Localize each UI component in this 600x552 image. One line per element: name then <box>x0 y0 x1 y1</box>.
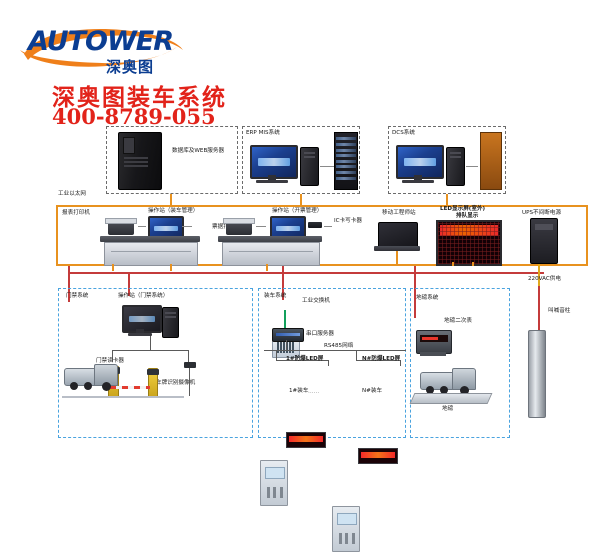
label-report-printer: 报表打印机 <box>62 210 90 216</box>
report-printer-icon <box>108 222 134 235</box>
drop-billing-ws <box>266 264 268 271</box>
label-weighbridge-system: 地磅系统 <box>416 295 438 301</box>
label-led-outdoor: LED显示屏(室外) <box>440 206 485 212</box>
barrier-gate-post-icon <box>148 368 158 398</box>
rs485-stem <box>286 340 287 350</box>
label-weighbridge: 地磅 <box>442 406 453 412</box>
gate-truck-tank-icon <box>64 368 98 386</box>
label-db-web-server: 数据库及WEB服务器 <box>172 148 232 154</box>
drop-db-web <box>170 194 172 205</box>
access-tree-bar <box>112 350 188 351</box>
led-explosionproof-n-icon <box>358 448 398 464</box>
weighbridge-plate-icon <box>410 393 493 404</box>
erp-link-line <box>320 166 334 167</box>
weigh-link-down <box>414 300 416 318</box>
ethernet-bus-line <box>56 205 588 207</box>
db-web-server-tower-icon <box>118 132 162 190</box>
diagram-canvas: AUTOWER 深奥图 深奥图装车系统 400-8789-055 数据库及WEB… <box>0 0 600 480</box>
label-serial-server: 串口服务器 <box>306 331 334 337</box>
gate-truck-wheel-1 <box>70 382 78 390</box>
rs485-branch-1 <box>276 350 277 360</box>
label-rs485: RS485网络 <box>324 343 353 349</box>
label-workstation-loading: 操作站（装车管理） <box>148 208 198 214</box>
label-led-explosionproof-n: N#防爆LED屏 <box>362 356 400 362</box>
erp-monitor-icon <box>250 145 298 179</box>
access-tree-stem <box>150 336 151 350</box>
dcs-link-line <box>466 166 478 167</box>
drop-led-outdoor-2 <box>472 262 474 266</box>
label-dcs: DCS系统 <box>392 130 415 136</box>
erp-pc-tower-icon <box>300 147 319 186</box>
label-ups: UPS不间断电源 <box>522 210 561 216</box>
dcs-panel-icon <box>480 132 502 190</box>
audio-column-stem <box>538 286 540 330</box>
drop-report-printer <box>112 264 114 271</box>
led-explosionproof-1-icon <box>286 432 326 448</box>
access-ws-monitor-base <box>128 333 152 336</box>
plate-recognition-camera-icon <box>184 362 196 368</box>
gate-truck-wheel-2 <box>84 382 92 390</box>
ethernet-bus-right-edge <box>586 205 588 265</box>
barrier-gate-arm-icon <box>110 386 150 389</box>
label-access-control-system: 门禁系统 <box>66 293 88 299</box>
ic-writer-link <box>324 226 332 227</box>
label-weighbridge-indicator: 地磅二次表 <box>444 318 472 324</box>
gate-truck-wheel-3 <box>102 382 111 391</box>
label-workstation-access: 操作站（门禁系统） <box>118 293 168 299</box>
weighbridge-indicator-base <box>420 352 446 356</box>
mobile-engineer-laptop-icon <box>378 222 418 248</box>
receipt-printer-icon <box>226 222 252 235</box>
company-logo: AUTOWER 深奥图 <box>18 20 188 72</box>
switch-downlink <box>284 310 286 328</box>
camera-pole <box>189 368 190 396</box>
zone-weighbridge <box>410 288 510 438</box>
ethernet-bus-left-edge <box>56 205 58 265</box>
drop-mobile-station <box>396 251 398 264</box>
loading-skid-n-icon <box>332 506 360 552</box>
weighbridge-indicator-icon <box>416 330 452 354</box>
label-erp-mis: ERP MIS系统 <box>246 130 280 136</box>
ups-icon <box>530 218 558 264</box>
logo-wordmark-cn: 深奥图 <box>106 56 154 77</box>
label-mobile-engineer-station: 移动工程师站 <box>382 210 416 216</box>
loading-skid-1-icon <box>260 460 288 506</box>
dcs-monitor-base <box>402 180 434 183</box>
drop-led-outdoor <box>452 262 454 266</box>
erp-rack-icon <box>334 132 358 190</box>
billing-console-body <box>222 242 320 266</box>
audio-column-icon <box>528 330 546 418</box>
rs485-to-led-1 <box>328 360 329 366</box>
dcs-pc-tower-icon <box>446 147 465 186</box>
label-loading-arm-n: N#装车 <box>362 388 382 394</box>
label-220vac: 220VAC供电 <box>528 276 561 282</box>
loading-console-body <box>104 242 198 266</box>
power-drop-line <box>538 264 540 286</box>
drop-loading-ws <box>170 264 172 271</box>
erp-monitor-base <box>256 180 288 183</box>
label-industrial-ethernet: 工业以太网 <box>58 191 86 197</box>
label-led-explosionproof-1: 1#防爆LED屏 <box>286 356 323 362</box>
access-ws-pc-icon <box>162 307 179 338</box>
drop-dcs <box>446 194 448 205</box>
gate-ground-line <box>62 396 184 398</box>
serial-server-icon <box>272 328 304 342</box>
label-industrial-switch: 工业交换机 <box>302 298 330 304</box>
label-workstation-billing: 操作站（开票管理） <box>272 208 322 214</box>
rs485-branch-2 <box>356 350 357 360</box>
label-led-outdoor-sub: 排队显示 <box>456 213 478 219</box>
dcs-monitor-icon <box>396 145 444 179</box>
label-ic-card-writer: IC卡写卡器 <box>334 218 362 224</box>
access-tree-to-camera <box>188 350 189 362</box>
led-outdoor-panel-icon <box>436 220 502 266</box>
zone-loading <box>258 288 406 438</box>
report-printer-link <box>138 226 146 227</box>
label-audio-column: 叫喊音柱 <box>548 308 570 314</box>
label-loading-ellipsis: …… <box>308 389 319 395</box>
receipt-printer-link <box>256 226 266 227</box>
ic-card-writer-icon <box>308 222 322 228</box>
loading-ws-link <box>182 226 192 227</box>
label-loading-arm-1: 1#装车 <box>289 388 308 394</box>
field-link-header <box>68 272 544 274</box>
rs485-bus-line <box>264 350 406 351</box>
label-loading-system: 装车系统 <box>264 293 286 299</box>
drop-erp <box>300 194 302 205</box>
logo-wordmark: AUTOWER <box>28 26 173 57</box>
